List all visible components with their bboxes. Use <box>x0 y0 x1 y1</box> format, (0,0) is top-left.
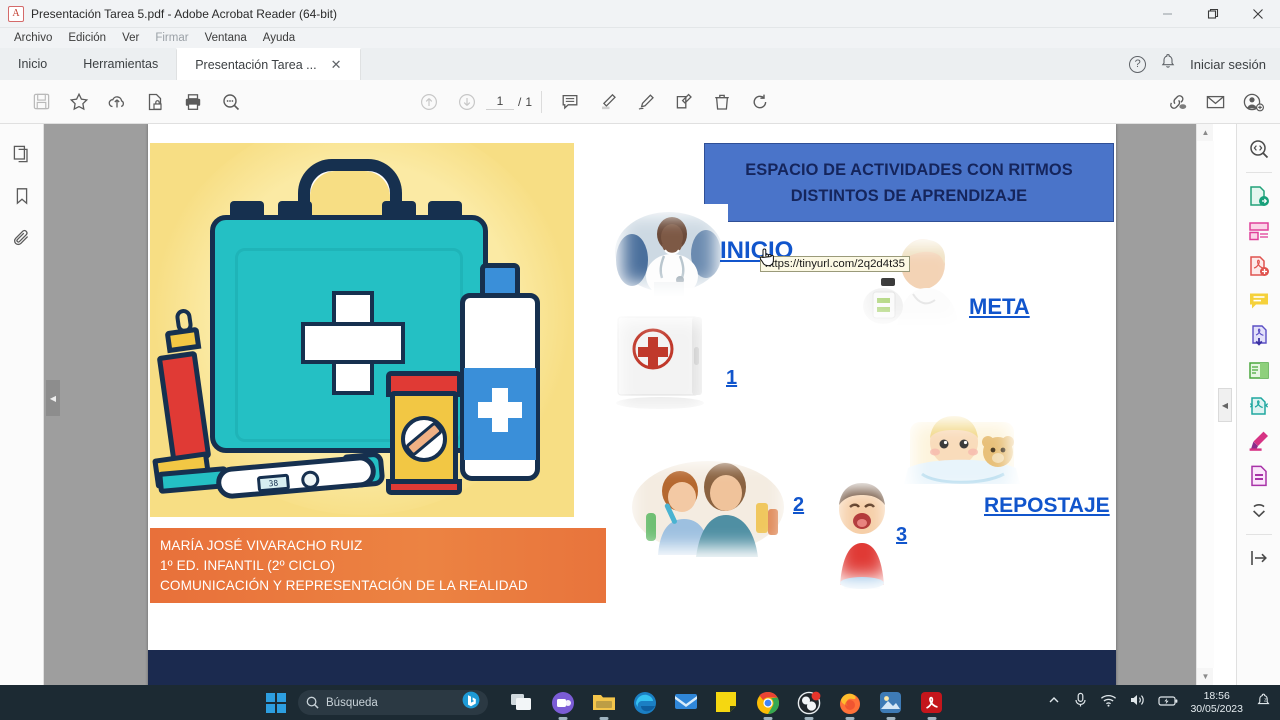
vertical-scrollbar[interactable]: ▲ ▼ <box>1196 124 1213 685</box>
sticky-notes-icon[interactable] <box>715 691 739 715</box>
slide-title-text: ESPACIO DE ACTIVIDADES CON RITMOS DISTIN… <box>705 157 1113 209</box>
collapse-left-panel-icon[interactable]: ◀ <box>46 380 60 416</box>
more-tools-icon[interactable] <box>1244 461 1274 491</box>
close-button[interactable] <box>1235 0 1280 28</box>
tab-inicio-label: Inicio <box>18 57 47 71</box>
crying-child-photo <box>826 479 898 589</box>
obs-studio-icon[interactable] <box>797 691 821 715</box>
acrobat-reader-icon[interactable] <box>920 691 944 715</box>
pdf-page[interactable]: 38 MARÍA JOSÉ VIVARACHO RUIZ 1º ED. <box>148 124 1116 685</box>
first-aid-cabinet-photo <box>608 309 714 419</box>
previous-page-icon[interactable] <box>410 83 448 121</box>
tab-herramientas-label: Herramientas <box>83 57 158 71</box>
link-1[interactable]: 1 <box>726 367 737 390</box>
print-icon[interactable] <box>174 83 212 121</box>
page-number-input[interactable]: 1 <box>486 94 514 110</box>
search-input[interactable]: Búsqueda <box>298 690 488 715</box>
menu-firmar[interactable]: Firmar <box>147 32 196 44</box>
compress-pdf-icon[interactable] <box>1244 321 1274 351</box>
protect-file-icon[interactable] <box>136 83 174 121</box>
star-icon[interactable] <box>60 83 98 121</box>
next-page-icon[interactable] <box>448 83 486 121</box>
page-total: 1 <box>525 95 532 109</box>
signin-area: ? Iniciar sesión <box>1129 48 1280 80</box>
protect-pdf-icon[interactable] <box>1244 391 1274 421</box>
clock-date: 30/05/2023 <box>1190 703 1243 716</box>
nurse-thermometer-photo <box>853 234 969 331</box>
scroll-up-arrow[interactable]: ▲ <box>1197 124 1214 141</box>
caption-line-1: MARÍA JOSÉ VIVARACHO RUIZ <box>160 536 596 556</box>
add-user-icon[interactable] <box>1234 83 1272 121</box>
signin-button[interactable]: Iniciar sesión <box>1190 57 1266 72</box>
father-and-child-photo <box>620 451 796 559</box>
title-bar: A Presentación Tarea 5.pdf - Adobe Acrob… <box>0 0 1280 28</box>
slide-content: 38 MARÍA JOSÉ VIVARACHO RUIZ 1º ED. <box>148 124 1116 685</box>
fill-and-sign-icon[interactable] <box>665 83 703 121</box>
windows-start-icon[interactable] <box>266 693 286 713</box>
search-document-icon[interactable] <box>1244 134 1274 164</box>
teams-icon[interactable] <box>551 691 575 715</box>
tab-document-label: Presentación Tarea ... <box>195 58 316 72</box>
tab-bar: Inicio Herramientas Presentación Tarea .… <box>0 48 1280 80</box>
mail-icon[interactable] <box>674 691 698 715</box>
caption-line-2: 1º ED. INFANTIL (2º CICLO) <box>160 556 596 576</box>
window-controls <box>1145 0 1280 28</box>
doctor-photo <box>610 204 728 296</box>
clock-time: 18:56 <box>1190 690 1243 703</box>
scroll-down-arrow[interactable]: ▼ <box>1197 668 1214 685</box>
slide-title-banner: ESPACIO DE ACTIVIDADES CON RITMOS DISTIN… <box>704 143 1114 222</box>
fill-sign-icon[interactable] <box>1244 426 1274 456</box>
tab-herramientas[interactable]: Herramientas <box>65 48 176 80</box>
battery-icon[interactable] <box>1158 694 1178 712</box>
help-icon[interactable]: ? <box>1129 56 1146 73</box>
sign-icon[interactable] <box>627 83 665 121</box>
email-icon[interactable] <box>1196 83 1234 121</box>
menu-ver[interactable]: Ver <box>114 32 147 44</box>
search-placeholder: Búsqueda <box>326 697 378 709</box>
collapse-panel-icon[interactable] <box>1244 543 1274 573</box>
task-view-icon[interactable] <box>510 691 534 715</box>
upload-cloud-icon[interactable] <box>98 83 136 121</box>
link-url-tooltip: https://tinyurl.com/2q2d4t35 <box>760 256 910 272</box>
right-tools-rail <box>1236 124 1280 685</box>
link-3[interactable]: 3 <box>896 524 907 547</box>
firefox-icon[interactable] <box>838 691 862 715</box>
link-2[interactable]: 2 <box>793 494 804 517</box>
save-icon[interactable] <box>22 83 60 121</box>
menu-ayuda[interactable]: Ayuda <box>255 32 303 44</box>
collapse-right-panel-icon[interactable]: ◀ <box>1218 388 1232 422</box>
pdf-icon: A <box>8 6 24 22</box>
link-meta[interactable]: META <box>969 294 1030 320</box>
window-title: Presentación Tarea 5.pdf - Adobe Acrobat… <box>31 7 337 21</box>
zoom-search-icon[interactable] <box>212 83 250 121</box>
svg-text:z: z <box>1264 697 1267 703</box>
rotate-icon[interactable] <box>741 83 779 121</box>
menu-edicion[interactable]: Edición <box>60 32 114 44</box>
minimize-button[interactable] <box>1145 0 1190 28</box>
windows-taskbar: Búsqueda <box>0 685 1280 720</box>
document-viewport[interactable]: 38 MARÍA JOSÉ VIVARACHO RUIZ 1º ED. <box>44 124 1196 685</box>
left-navigation-rail <box>0 124 44 685</box>
bookmarks-icon[interactable] <box>8 182 36 210</box>
child-in-bed-photo <box>902 412 1022 502</box>
tab-inicio[interactable]: Inicio <box>0 48 65 80</box>
file-explorer-icon[interactable] <box>592 691 616 715</box>
next-page-preview <box>148 650 1116 685</box>
edit-pdf-icon[interactable] <box>1244 356 1274 386</box>
volume-icon[interactable] <box>1129 693 1146 712</box>
organize-pages-icon[interactable] <box>1244 216 1274 246</box>
toolbar: 1 / 1 <box>0 80 1280 124</box>
bing-copilot-icon[interactable] <box>462 691 480 714</box>
menu-ventana[interactable]: Ventana <box>197 32 255 44</box>
maximize-button[interactable] <box>1190 0 1235 28</box>
scrollbar-track[interactable] <box>1197 141 1214 668</box>
edge-icon[interactable] <box>633 691 657 715</box>
notifications-bell-icon[interactable]: z <box>1255 692 1272 714</box>
menu-archivo[interactable]: Archivo <box>6 32 60 44</box>
show-hidden-icons-icon[interactable] <box>1047 693 1061 712</box>
attachments-icon[interactable] <box>8 224 36 252</box>
create-pdf-icon[interactable] <box>1244 251 1274 281</box>
taskbar-clock[interactable]: 18:56 30/05/2023 <box>1190 690 1243 716</box>
bell-icon[interactable] <box>1160 53 1176 75</box>
link-repostaje[interactable]: REPOSTAJE <box>984 494 1110 518</box>
delete-icon[interactable] <box>703 83 741 121</box>
photos-icon[interactable] <box>879 691 903 715</box>
caption-line-3: COMUNICACIÓN Y REPRESENTACIÓN DE LA REAL… <box>160 576 596 596</box>
close-icon[interactable]: ✕ <box>331 57 342 73</box>
first-aid-kit-illustration: 38 <box>150 143 574 517</box>
comment-icon[interactable] <box>551 83 589 121</box>
search-icon <box>306 696 319 709</box>
hand-cursor-icon <box>758 247 774 272</box>
menu-bar: Archivo Edición Ver Firmar Ventana Ayuda <box>0 28 1280 48</box>
page-thumbnails-icon[interactable] <box>8 140 36 168</box>
chrome-icon[interactable] <box>756 691 780 715</box>
author-caption-box: MARÍA JOSÉ VIVARACHO RUIZ 1º ED. INFANTI… <box>150 528 606 603</box>
tab-document[interactable]: Presentación Tarea ... ✕ <box>176 48 360 80</box>
comment-icon[interactable] <box>1244 286 1274 316</box>
page-separator: / <box>518 95 521 109</box>
export-pdf-icon[interactable] <box>1244 181 1274 211</box>
microphone-icon[interactable] <box>1073 692 1088 713</box>
share-link-icon[interactable] <box>1158 83 1196 121</box>
page-navigation[interactable]: 1 / 1 <box>486 94 532 110</box>
highlight-icon[interactable] <box>589 83 627 121</box>
wifi-icon[interactable] <box>1100 693 1117 712</box>
chevron-down-icon[interactable] <box>1244 496 1274 526</box>
